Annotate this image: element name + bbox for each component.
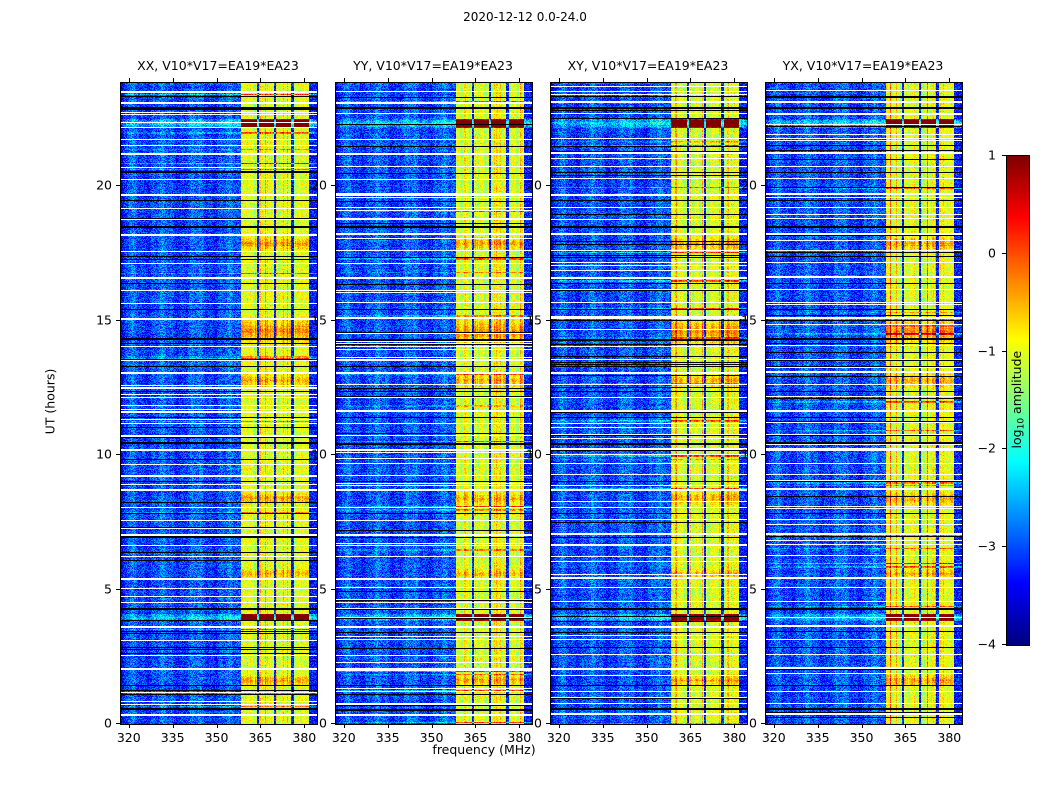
panel-xx-xticklabel: 365 [248, 730, 272, 745]
panel-yx-xtick-top [818, 78, 819, 82]
panel-yy-xtick [388, 724, 389, 728]
colorbar-ticklabel: −4 [960, 637, 996, 652]
panel-yy-xtick [344, 724, 345, 728]
panel-xy-xticklabel: 320 [547, 730, 571, 745]
panel-xy-yticklabel: 10 [508, 447, 542, 462]
panel-yy-ytick [331, 723, 335, 724]
colorbar-ticklabel: −1 [960, 343, 996, 358]
panel-xx-xtick-top [173, 78, 174, 82]
panel-yx-xticklabel: 335 [806, 730, 830, 745]
panel-yy-ytick [331, 454, 335, 455]
colorbar-tick [1002, 253, 1006, 254]
panel-xy-ytick [546, 723, 550, 724]
colorbar-label-subscript: 10 [1016, 417, 1026, 428]
panel-yx-title: YX, V10*V17=EA19*EA23 [783, 58, 944, 73]
panel-yy-yticklabel: 20 [293, 178, 327, 193]
panel-xy-xtick [647, 724, 648, 728]
panel-yy-ytick [331, 320, 335, 321]
panel-xx-yticklabel: 15 [78, 312, 112, 327]
colorbar-ticklabel: −3 [960, 539, 996, 554]
panel-yx-yticklabel: 20 [723, 178, 757, 193]
panel-yy-xtick-top [344, 78, 345, 82]
panel-yx-xticklabel: 380 [937, 730, 961, 745]
figure-canvas: 2020-12-12 0.0-24.0 XX, V10*V17=EA19*EA2… [0, 0, 1050, 800]
panel-yy-xtick [475, 724, 476, 728]
panel-xy-yticklabel: 5 [508, 581, 542, 596]
panel-xx-yticklabel: 20 [78, 178, 112, 193]
panel-yx-spectrogram [766, 83, 962, 724]
panel-xy-xtick-top [647, 78, 648, 82]
colorbar-tick [1002, 448, 1006, 449]
colorbar-ticklabel: 1 [960, 148, 996, 163]
panel-yx-xtick [905, 724, 906, 728]
panel-yx-axes[interactable] [765, 82, 963, 725]
panel-xx-xticklabel: 320 [117, 730, 141, 745]
panel-xx-spectrogram [121, 83, 317, 724]
panel-yy-axes[interactable] [335, 82, 533, 725]
panel-yy-yticklabel: 0 [293, 716, 327, 731]
panel-yx-ytick [761, 723, 765, 724]
panel-xy-xticklabel: 365 [678, 730, 702, 745]
panel-yy-xticklabel: 320 [332, 730, 356, 745]
panel-xy-yticklabel: 20 [508, 178, 542, 193]
panel-xy-xtick-top [734, 78, 735, 82]
panel-xy-xticklabel: 380 [722, 730, 746, 745]
panel-xy-xtick [603, 724, 604, 728]
panel-yx-xtick-top [949, 78, 950, 82]
panel-xy-axes[interactable] [550, 82, 748, 725]
panel-xx-ytick [116, 320, 120, 321]
panel-xx-xticklabel: 350 [205, 730, 229, 745]
panel-yx-ytick [761, 589, 765, 590]
panel-yy-xtick-top [475, 78, 476, 82]
panel-xx-xtick-top [217, 78, 218, 82]
panel-xx-yticklabel: 5 [78, 581, 112, 596]
panel-yx-xtick [862, 724, 863, 728]
colorbar-label: log10 amplitude [1009, 350, 1026, 448]
panel-yx-ytick [761, 320, 765, 321]
panel-xx-yticklabel: 0 [78, 716, 112, 731]
panel-yx-xticklabel: 320 [762, 730, 786, 745]
panel-yy-xtick-top [388, 78, 389, 82]
panel-yx-xtick [818, 724, 819, 728]
panel-xy-xtick-top [690, 78, 691, 82]
panel-xy-xticklabel: 335 [591, 730, 615, 745]
panel-yx-xtick-top [774, 78, 775, 82]
colorbar-label-prefix: log [1009, 429, 1024, 448]
panel-xx-ytick [116, 454, 120, 455]
panel-xx-xtick [260, 724, 261, 728]
panel-xx-ytick [116, 723, 120, 724]
panel-xy-yticklabel: 15 [508, 312, 542, 327]
panel-yy-yticklabel: 15 [293, 312, 327, 327]
panel-yy-yticklabel: 5 [293, 581, 327, 596]
x-axis-label: frequency (MHz) [432, 742, 535, 757]
panel-yy-ytick [331, 185, 335, 186]
panel-yy-yticklabel: 10 [293, 447, 327, 462]
panel-xy-spectrogram [551, 83, 747, 724]
colorbar-tick [1002, 351, 1006, 352]
panel-xx-xtick [173, 724, 174, 728]
panel-xx-yticklabel: 10 [78, 447, 112, 462]
panel-xx-ytick [116, 185, 120, 186]
panel-yx-yticklabel: 0 [723, 716, 757, 731]
panel-xx-xtick-top [129, 78, 130, 82]
panel-yx-ytick [761, 185, 765, 186]
colorbar-ticklabel: 0 [960, 245, 996, 260]
colorbar-tick [1002, 155, 1006, 156]
panel-xy-xtick-top [559, 78, 560, 82]
panel-yx-xtick-top [862, 78, 863, 82]
colorbar-label-suffix: amplitude [1009, 350, 1024, 417]
panel-xx-axes[interactable] [120, 82, 318, 725]
panel-xy-ytick [546, 320, 550, 321]
y-axis-label: UT (hours) [42, 368, 57, 434]
panel-yy-ytick [331, 589, 335, 590]
colorbar-tick [1002, 644, 1006, 645]
panel-yx-yticklabel: 5 [723, 581, 757, 596]
panel-xx-xticklabel: 380 [292, 730, 316, 745]
panel-yx-xtick-top [905, 78, 906, 82]
panel-xy-ytick [546, 185, 550, 186]
panel-yy-xtick [432, 724, 433, 728]
panel-xy-yticklabel: 0 [508, 716, 542, 731]
colorbar-tick [1002, 546, 1006, 547]
panel-xy-xtick [559, 724, 560, 728]
panel-yx-xtick [774, 724, 775, 728]
panel-xy-xtick [690, 724, 691, 728]
panel-yx-xticklabel: 365 [893, 730, 917, 745]
panel-xx-xtick-top [304, 78, 305, 82]
panel-yx-xticklabel: 350 [850, 730, 874, 745]
panel-xx-xtick [217, 724, 218, 728]
colorbar-ticklabel: −2 [960, 441, 996, 456]
panel-xy-title: XY, V10*V17=EA19*EA23 [568, 58, 729, 73]
panel-yy-spectrogram [336, 83, 532, 724]
figure-suptitle: 2020-12-12 0.0-24.0 [0, 10, 1050, 24]
panel-xx-xtick-top [260, 78, 261, 82]
panel-xy-xtick-top [603, 78, 604, 82]
panel-yx-xtick [949, 724, 950, 728]
panel-xy-ytick [546, 589, 550, 590]
panel-xx-xtick [129, 724, 130, 728]
panel-xy-xticklabel: 350 [635, 730, 659, 745]
panel-yx-ytick [761, 454, 765, 455]
panel-xy-ytick [546, 454, 550, 455]
panel-xx-ytick [116, 589, 120, 590]
panel-yy-title: YY, V10*V17=EA19*EA23 [353, 58, 513, 73]
panel-yy-xticklabel: 335 [376, 730, 400, 745]
panel-xx-title: XX, V10*V17=EA19*EA23 [137, 58, 299, 73]
panel-xx-xticklabel: 335 [161, 730, 185, 745]
panel-yx-yticklabel: 15 [723, 312, 757, 327]
panel-yy-xtick-top [432, 78, 433, 82]
panel-yx-yticklabel: 10 [723, 447, 757, 462]
panel-yy-xtick-top [519, 78, 520, 82]
